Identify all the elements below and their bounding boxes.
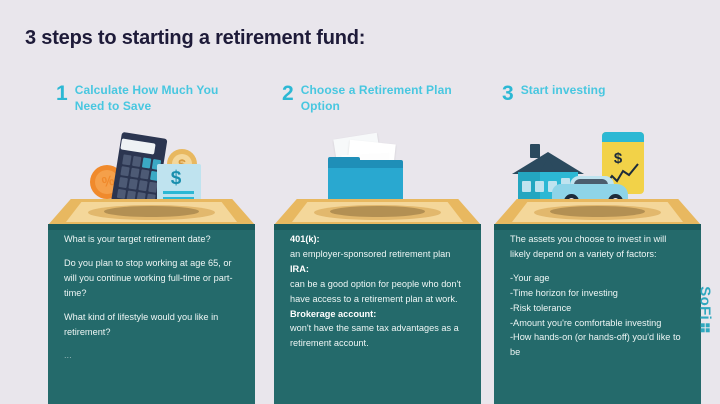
check-line-1 (163, 191, 194, 194)
house-car-stock-chart-illustration: $ (490, 128, 705, 208)
step-2-panel-edge (274, 224, 481, 230)
term-brokerage-label: Brokerage account: (290, 307, 462, 322)
term-401k: 401(k): (290, 234, 320, 244)
folder-documents-illustration (270, 128, 485, 208)
list-item: -How hands-on (or hands-off) you'd like … (510, 330, 682, 360)
step-2-heading: 2 Choose a Retirement Plan Option (282, 82, 461, 114)
calculator-coins-check-illustration: % $ $ (44, 128, 259, 208)
step-column-1: 1 Calculate How Much You Need to Save % … (44, 0, 259, 404)
step-3-panel-edge (494, 224, 701, 230)
step-1-number: 1 (56, 82, 68, 104)
step-1-panel-text: What is your target retirement date? Do … (64, 232, 236, 404)
step-column-3: 3 Start investing $ (490, 0, 705, 404)
step-3-factor-list: -Your age -Time horizon for investing -R… (510, 271, 682, 360)
pedestal-shadow (330, 206, 425, 217)
term-401k-definition: an employer-sponsored retirement plan (290, 247, 462, 262)
step-3-intro: The assets you choose to invest in will … (510, 232, 682, 262)
house-window-1 (522, 181, 531, 192)
sofi-wordmark: SoFi (697, 286, 714, 320)
step-3-heading: 3 Start investing (502, 82, 606, 104)
check-dollar-sign-icon: $ (166, 168, 186, 190)
step-1-question-2: Do you plan to stop working at age 65, o… (64, 256, 236, 301)
sofi-logo: SoFi (697, 286, 714, 332)
step-2-title: Choose a Retirement Plan Option (301, 82, 461, 114)
step-3-panel-text: The assets you choose to invest in will … (510, 232, 682, 404)
step-3-number: 3 (502, 82, 514, 104)
term-brokerage-definition: won't have the same tax advantages as a … (290, 321, 462, 351)
step-1-question-1: What is your target retirement date? (64, 232, 236, 247)
pedestal-shadow (104, 206, 199, 217)
list-item: -Amount you're comfortable investing (510, 316, 682, 331)
step-2-number: 2 (282, 82, 294, 104)
calculator-keys (117, 154, 161, 203)
step-1-panel-edge (48, 224, 255, 230)
chimney (530, 144, 540, 158)
list-item: -Your age (510, 271, 682, 286)
sofi-mark-icon (701, 323, 710, 332)
step-1-heading: 1 Calculate How Much You Need to Save (56, 82, 235, 114)
term-ira-label: IRA: (290, 262, 462, 277)
term-ira-definition: can be a good option for people who don'… (290, 277, 462, 307)
house-window-2 (535, 181, 544, 192)
step-column-2: 2 Choose a Retirement Plan Option 401(k)… (270, 0, 485, 404)
list-item: -Risk tolerance (510, 301, 682, 316)
step-1-question-3: What kind of lifestyle would you like in… (64, 310, 236, 340)
step-1-title: Calculate How Much You Need to Save (75, 82, 235, 114)
infographic-canvas: 3 steps to starting a retirement fund: 1… (0, 0, 720, 404)
term-brokerage: Brokerage account: (290, 309, 376, 319)
pedestal-shadow (550, 206, 645, 217)
stock-chart-card-header (602, 132, 644, 142)
term-ira: IRA: (290, 264, 309, 274)
step-1-truncated-line: ... (64, 348, 236, 363)
step-3-title: Start investing (521, 82, 606, 98)
term-401k-label: 401(k): (290, 232, 462, 247)
list-item: -Time horizon for investing (510, 286, 682, 301)
step-2-panel-text: 401(k): an employer-sponsored retirement… (290, 232, 462, 404)
